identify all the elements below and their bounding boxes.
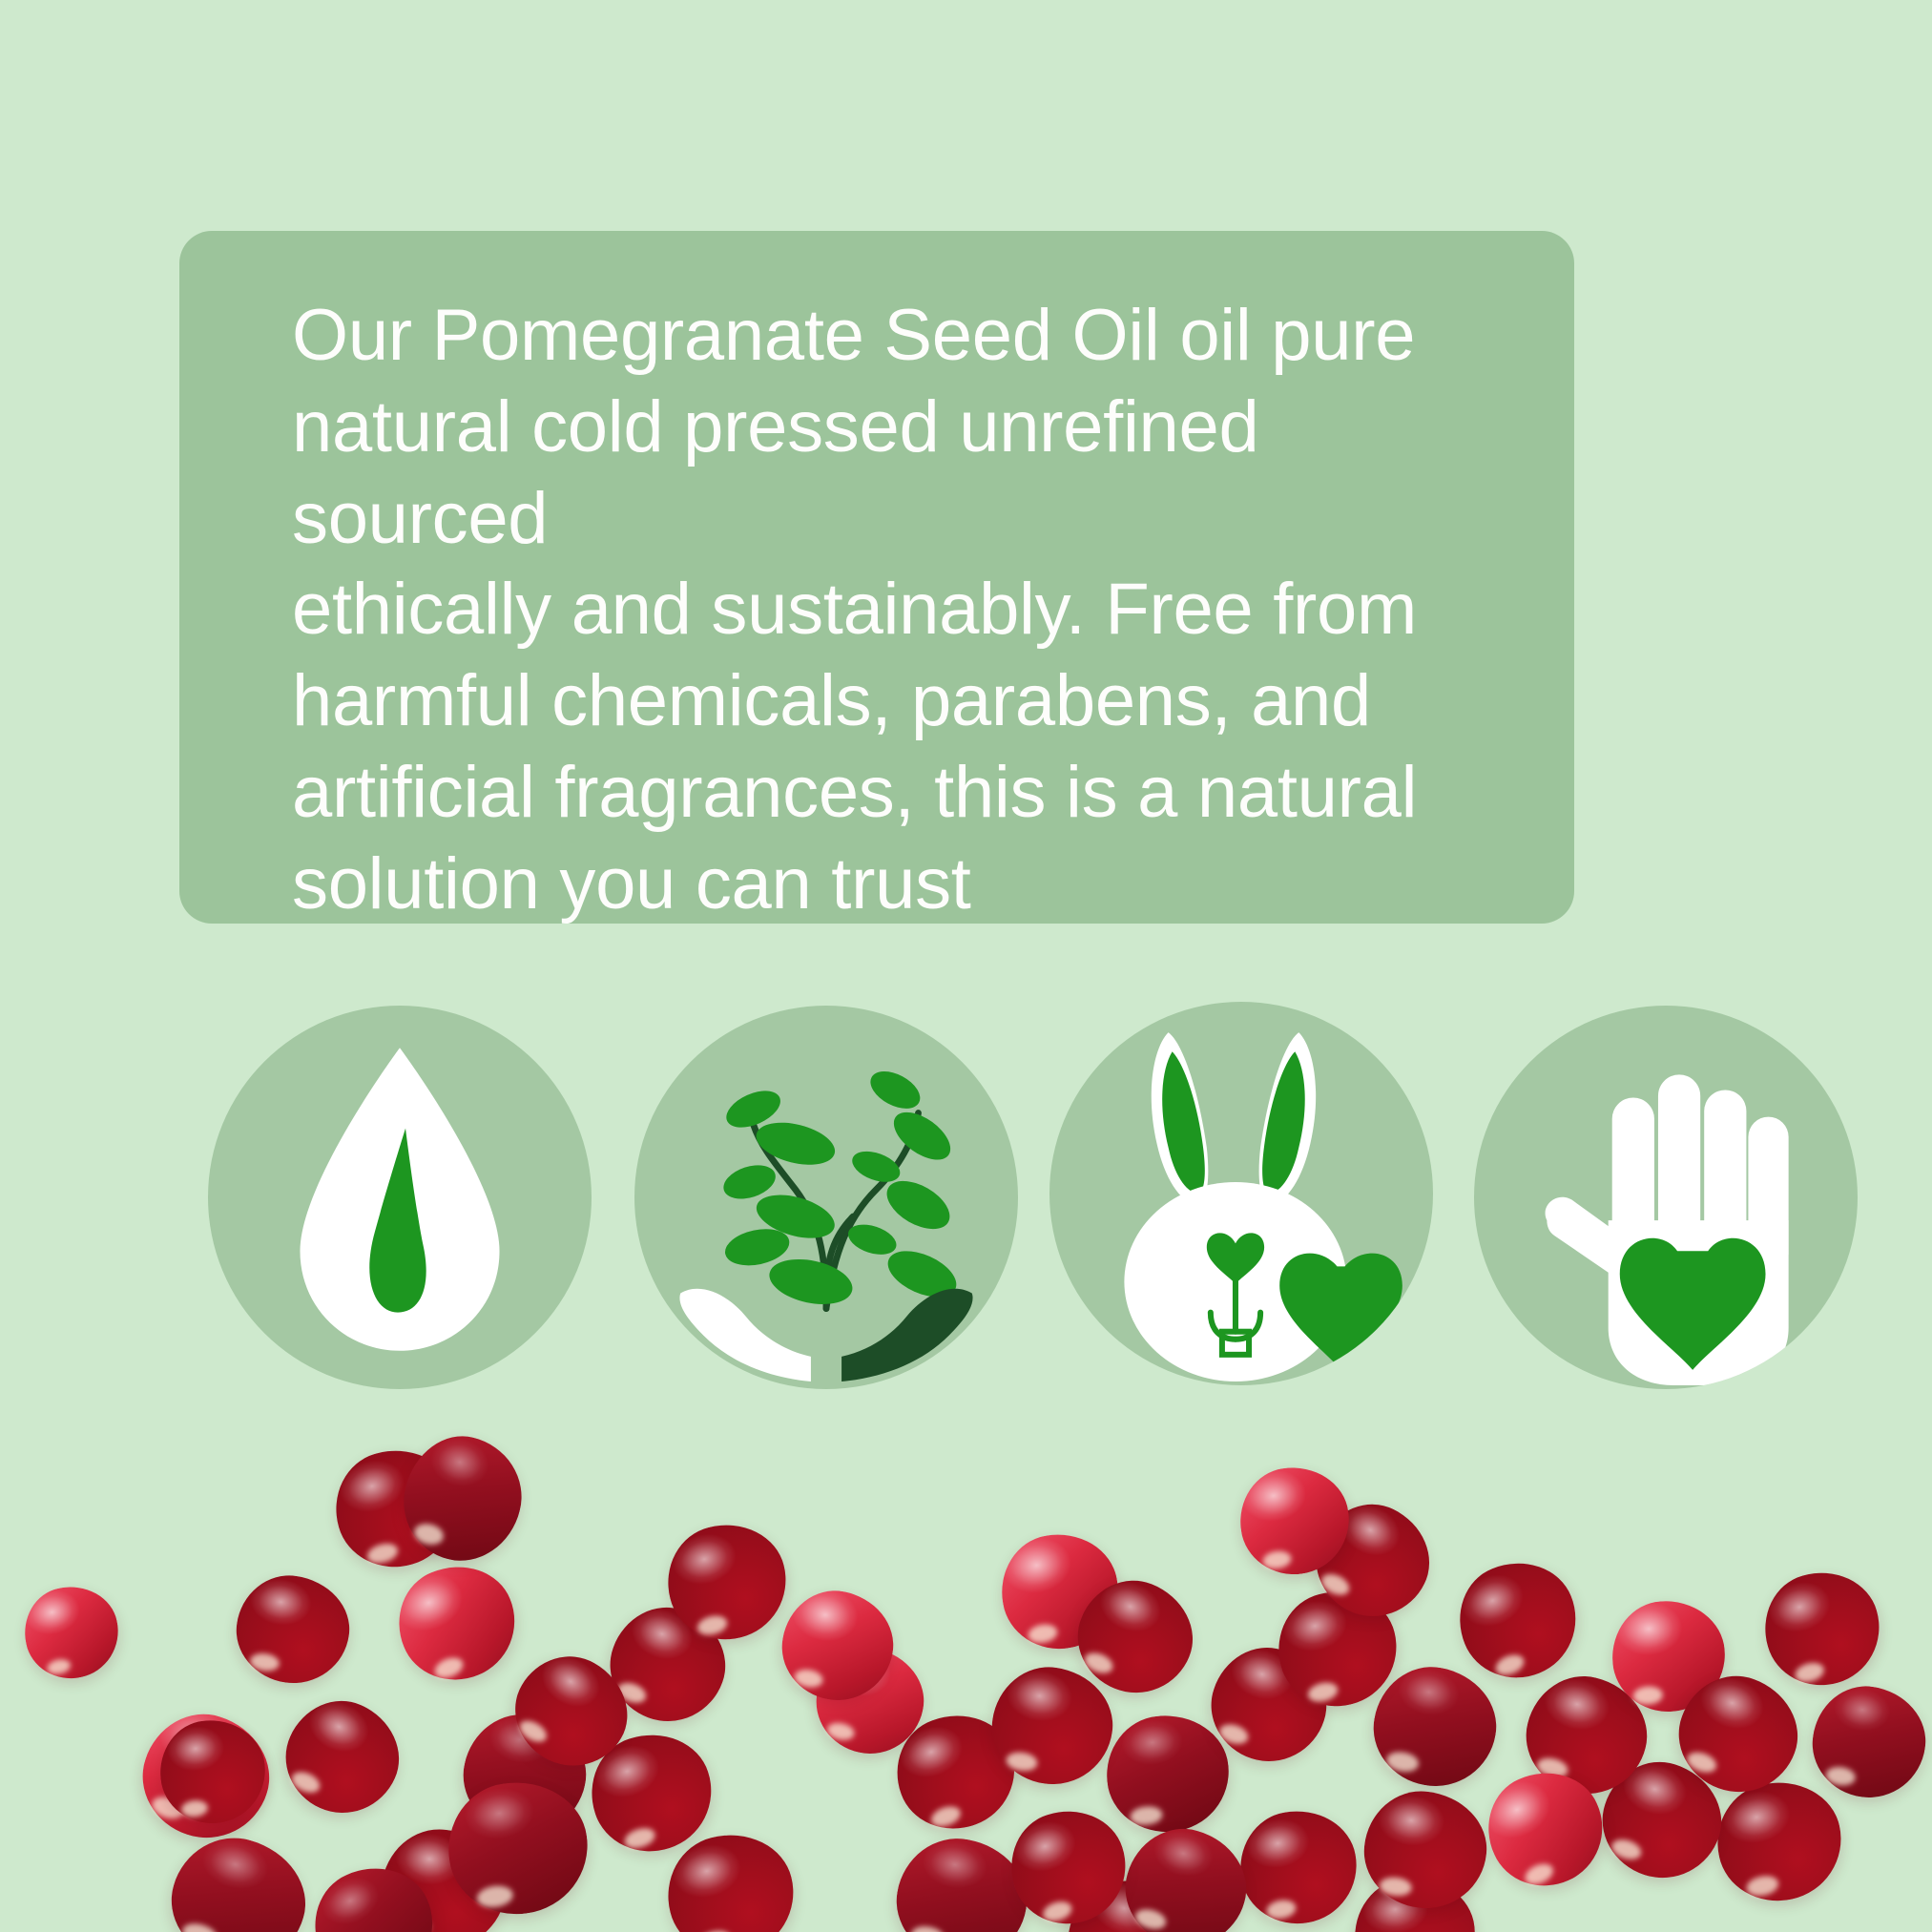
badge-made-with-care[interactable] xyxy=(1474,1006,1858,1389)
pomegranate-seed xyxy=(1112,1816,1260,1932)
pomegranate-seed xyxy=(16,1578,127,1687)
oil-droplet-icon xyxy=(208,1006,592,1389)
cruelty-free-rabbit-icon xyxy=(1049,1002,1433,1385)
plant-in-hands-icon xyxy=(634,1006,1018,1389)
pomegranate-seed xyxy=(1232,1801,1366,1932)
pomegranate-seed xyxy=(1707,1771,1853,1912)
pomegranate-seed-scatter xyxy=(0,1429,1932,1932)
pomegranate-seed xyxy=(1101,1710,1235,1839)
pomegranate-seed xyxy=(1806,1679,1932,1804)
product-description-text: Our Pomegranate Seed Oil oil pure natura… xyxy=(292,290,1502,929)
pomegranate-seed xyxy=(1443,1546,1593,1695)
hand-with-heart-icon xyxy=(1474,1006,1858,1389)
pomegranate-seed xyxy=(230,1568,356,1690)
description-card: Our Pomegranate Seed Oil oil pure natura… xyxy=(179,231,1574,924)
pomegranate-seed xyxy=(1752,1559,1893,1699)
pomegranate-seed xyxy=(269,1684,417,1831)
badge-pure-oil[interactable] xyxy=(208,1006,592,1389)
promo-graphic: Our Pomegranate Seed Oil oil pure natura… xyxy=(0,0,1932,1932)
badge-sustainably-sourced[interactable] xyxy=(634,1006,1018,1389)
badge-cruelty-free[interactable] xyxy=(1049,1002,1433,1385)
pomegranate-seed xyxy=(382,1548,531,1696)
benefit-badge-row xyxy=(0,992,1932,1393)
pomegranate-seed xyxy=(157,1823,320,1932)
